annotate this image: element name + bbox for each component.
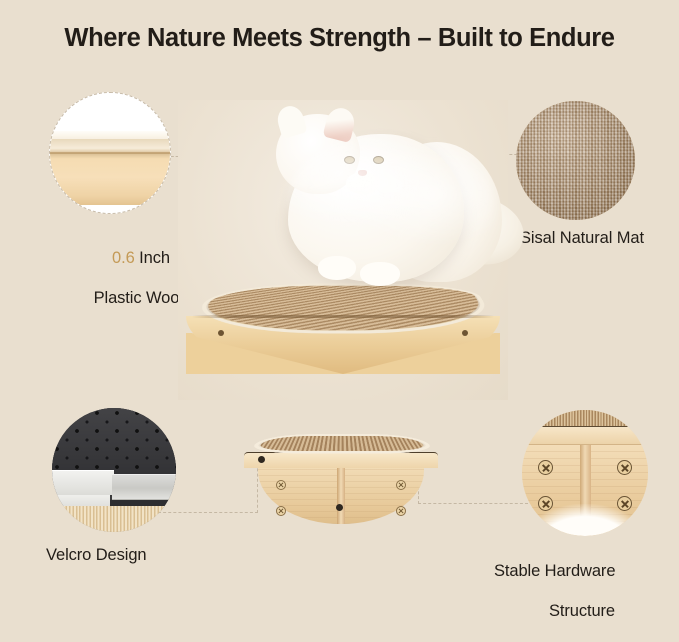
cat-eye-icon <box>373 156 384 164</box>
hardware-caption-line2: Structure <box>484 601 679 621</box>
screw-icon <box>617 460 632 475</box>
wood-edge-swatch-icon <box>49 92 171 214</box>
hero-product-photo <box>178 100 508 400</box>
hardware-structure-swatch-icon <box>522 410 648 536</box>
cat-nose-icon <box>358 170 367 176</box>
infographic-canvas: Where Nature Meets Strength – Built to E… <box>0 0 679 611</box>
cat-eye-icon <box>344 156 355 164</box>
velcro-texture-swatch-icon <box>52 408 176 532</box>
screw-icon <box>396 506 406 516</box>
material-name: Plastic Wood <box>94 289 189 307</box>
thickness-unit: Inch <box>135 249 170 267</box>
screw-icon <box>276 480 286 490</box>
shelf-bolt-icon <box>218 330 224 336</box>
thickness-value: 0.6 <box>112 249 135 267</box>
sisal-texture-swatch-icon <box>516 101 635 220</box>
screw-icon <box>276 506 286 516</box>
caption-velcro-design: Velcro Design <box>46 545 256 565</box>
shelf-bolt-icon <box>336 504 343 511</box>
shelf-bolt-icon <box>258 456 265 463</box>
screw-icon <box>396 480 406 490</box>
page-title: Where Nature Meets Strength – Built to E… <box>0 24 679 53</box>
cat-illustration <box>226 108 506 313</box>
caption-stable-hardware: Stable Hardware Structure <box>484 541 679 642</box>
shelf-bolt-icon <box>462 330 468 336</box>
screw-icon <box>538 460 553 475</box>
product-underside-photo <box>228 424 454 532</box>
hardware-caption-line1: Stable Hardware <box>484 561 679 581</box>
